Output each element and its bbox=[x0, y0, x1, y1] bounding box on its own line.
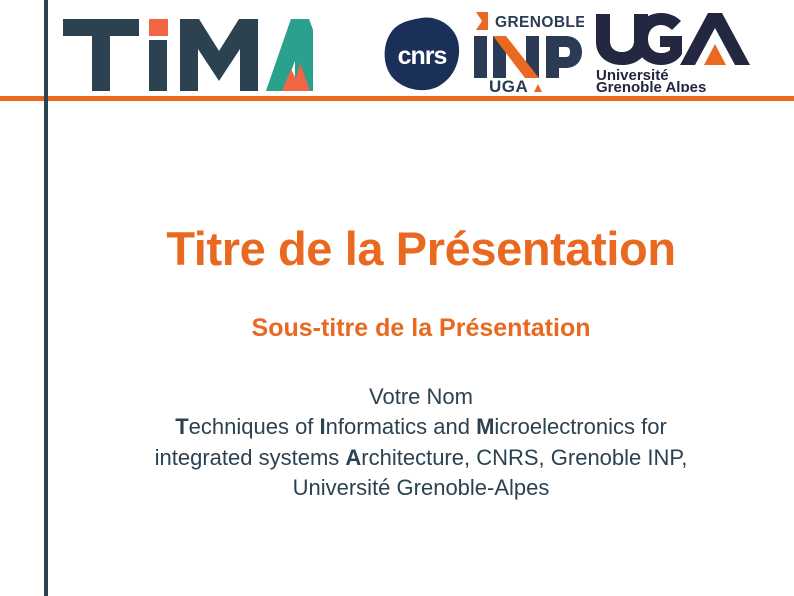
page-subtitle: Sous-titre de la Présentation bbox=[48, 314, 794, 343]
page-title: Titre de la Présentation bbox=[48, 224, 794, 275]
affiliation-line-1: Techniques of Informatics and Microelect… bbox=[48, 412, 794, 442]
uga-logo: Université Grenoble Alpes bbox=[592, 12, 752, 92]
svg-text:UGA: UGA bbox=[489, 77, 528, 94]
svg-text:cnrs: cnrs bbox=[398, 42, 447, 70]
orange-horizontal-rule bbox=[0, 96, 794, 101]
author-name: Votre Nom bbox=[48, 382, 794, 412]
logo-header-band: cnrs GRENOBLE UGA bbox=[0, 0, 794, 96]
svg-text:Grenoble Alpes: Grenoble Alpes bbox=[596, 79, 706, 92]
affiliation-line-3: Université Grenoble-Alpes bbox=[48, 473, 794, 503]
affiliation-line-2: integrated systems Architecture, CNRS, G… bbox=[48, 443, 794, 473]
presentation-title-slide: cnrs GRENOBLE UGA bbox=[0, 0, 794, 596]
cnrs-logo: cnrs bbox=[384, 17, 460, 91]
author-affiliation-block: Votre Nom Techniques of Informatics and … bbox=[48, 382, 794, 503]
tima-logo bbox=[63, 19, 313, 91]
grenoble-inp-logo: GRENOBLE UGA bbox=[468, 6, 584, 94]
svg-text:GRENOBLE: GRENOBLE bbox=[495, 14, 584, 31]
navy-vertical-rule bbox=[44, 0, 48, 596]
